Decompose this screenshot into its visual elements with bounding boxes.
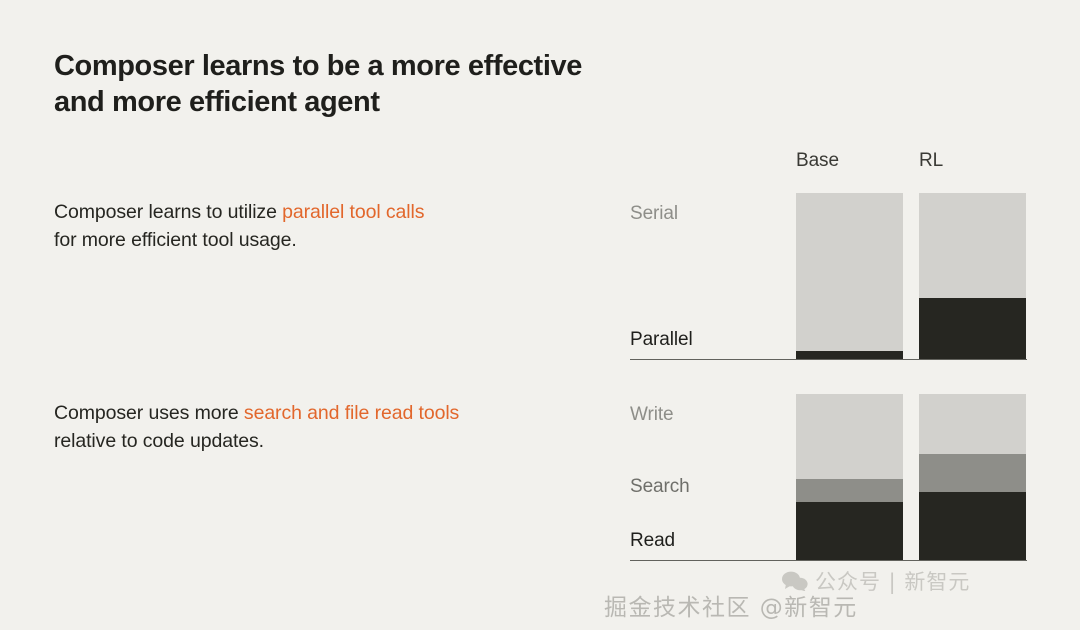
chart-tool-mix-bar-base-segment-read — [796, 502, 903, 560]
slide-root: Composer learns to be a more effective a… — [0, 0, 1080, 630]
description-paragraph-1-line-1: Composer learns to utilize parallel tool… — [54, 199, 594, 227]
charts-container: Base RL Serial Parallel W — [630, 140, 1030, 570]
chart-parallelism-axis-line — [630, 359, 1027, 360]
chart-parallelism-bar-rl — [919, 193, 1026, 359]
chart-tool-mix-plot: Write Search Read — [630, 394, 1030, 560]
chart-tool-mix-row-label-search: Search — [630, 476, 690, 498]
description-paragraph-2: Composer uses more search and file read … — [54, 400, 594, 455]
chart-tool-mix-bar-rl-segment-read — [919, 492, 1026, 560]
chart-parallelism-bar-base — [796, 193, 903, 359]
chart-parallelism-bar-base-segment-parallel — [796, 351, 903, 359]
chart-tool-mix-bar-rl-segment-write — [919, 394, 1026, 454]
description-paragraph-1-accent: parallel tool calls — [282, 201, 424, 223]
chart-parallelism-plot: Serial Parallel — [630, 193, 1030, 359]
description-paragraph-2-prefix: Composer uses more — [54, 402, 244, 424]
chart-tool-mix-bar-rl-segment-search — [919, 454, 1026, 492]
description-paragraph-1: Composer learns to utilize parallel tool… — [54, 199, 594, 254]
chart-parallelism-row-label-serial: Serial — [630, 203, 678, 225]
description-paragraph-2-line-2: relative to code updates. — [54, 428, 594, 456]
description-paragraph-1-prefix: Composer learns to utilize — [54, 201, 282, 223]
watermark-lower: 掘金技术社区 @新智元 — [604, 588, 858, 622]
chart-tool-mix-bar-base-segment-search — [796, 479, 903, 502]
chart-tool-mix: Write Search Read — [630, 391, 1030, 561]
page-title-line-1: Composer learns to be a more effective — [54, 48, 654, 84]
column-header-rl: RL — [919, 150, 943, 172]
chart-tool-mix-row-label-write: Write — [630, 404, 673, 426]
page-title-line-2: and more efficient agent — [54, 84, 654, 120]
chart-tool-mix-bar-base — [796, 394, 903, 560]
page-title: Composer learns to be a more effective a… — [54, 48, 654, 121]
description-paragraph-2-line-1: Composer uses more search and file read … — [54, 400, 594, 428]
chart-parallelism-bar-rl-segment-parallel — [919, 298, 1026, 359]
description-paragraph-2-accent: search and file read tools — [244, 402, 459, 424]
chart-tool-mix-axis-line — [630, 560, 1027, 561]
chart-parallelism-bar-base-segment-serial — [796, 193, 903, 351]
chart-parallelism-bar-rl-segment-serial — [919, 193, 1026, 298]
chart-column-headers: Base RL — [630, 150, 1030, 178]
description-paragraph-1-line-2: for more efficient tool usage. — [54, 227, 594, 255]
chart-tool-mix-bar-base-segment-write — [796, 394, 903, 479]
chart-parallelism: Serial Parallel — [630, 190, 1030, 360]
chart-tool-mix-bar-rl — [919, 394, 1026, 560]
column-header-base: Base — [796, 150, 839, 172]
chart-tool-mix-row-label-read: Read — [630, 530, 675, 552]
chart-parallelism-row-label-parallel: Parallel — [630, 329, 693, 351]
